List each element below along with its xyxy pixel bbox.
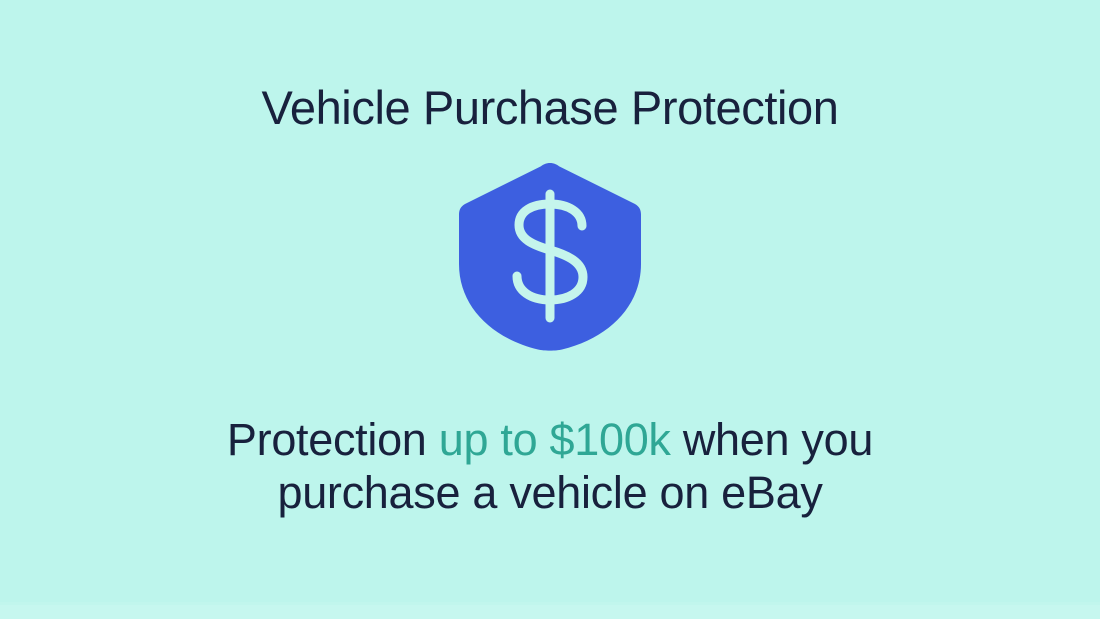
page-title: Vehicle Purchase Protection xyxy=(0,83,1100,133)
subhead-line-2: purchase a vehicle on eBay xyxy=(0,467,1100,520)
subhead-line-1-after: when you xyxy=(671,414,873,465)
shield-dollar-icon xyxy=(457,160,643,352)
bottom-hairline xyxy=(0,602,1100,605)
subhead: Protection up to $100k when you purchase… xyxy=(0,414,1100,519)
shield-badge xyxy=(457,160,643,352)
promo-slide: Vehicle Purchase Protection Protection u… xyxy=(0,0,1100,619)
bottom-band xyxy=(0,605,1100,619)
subhead-highlight: up to $100k xyxy=(439,414,671,465)
subhead-line-1: Protection up to $100k when you xyxy=(0,414,1100,467)
subhead-line-1-before: Protection xyxy=(227,414,439,465)
